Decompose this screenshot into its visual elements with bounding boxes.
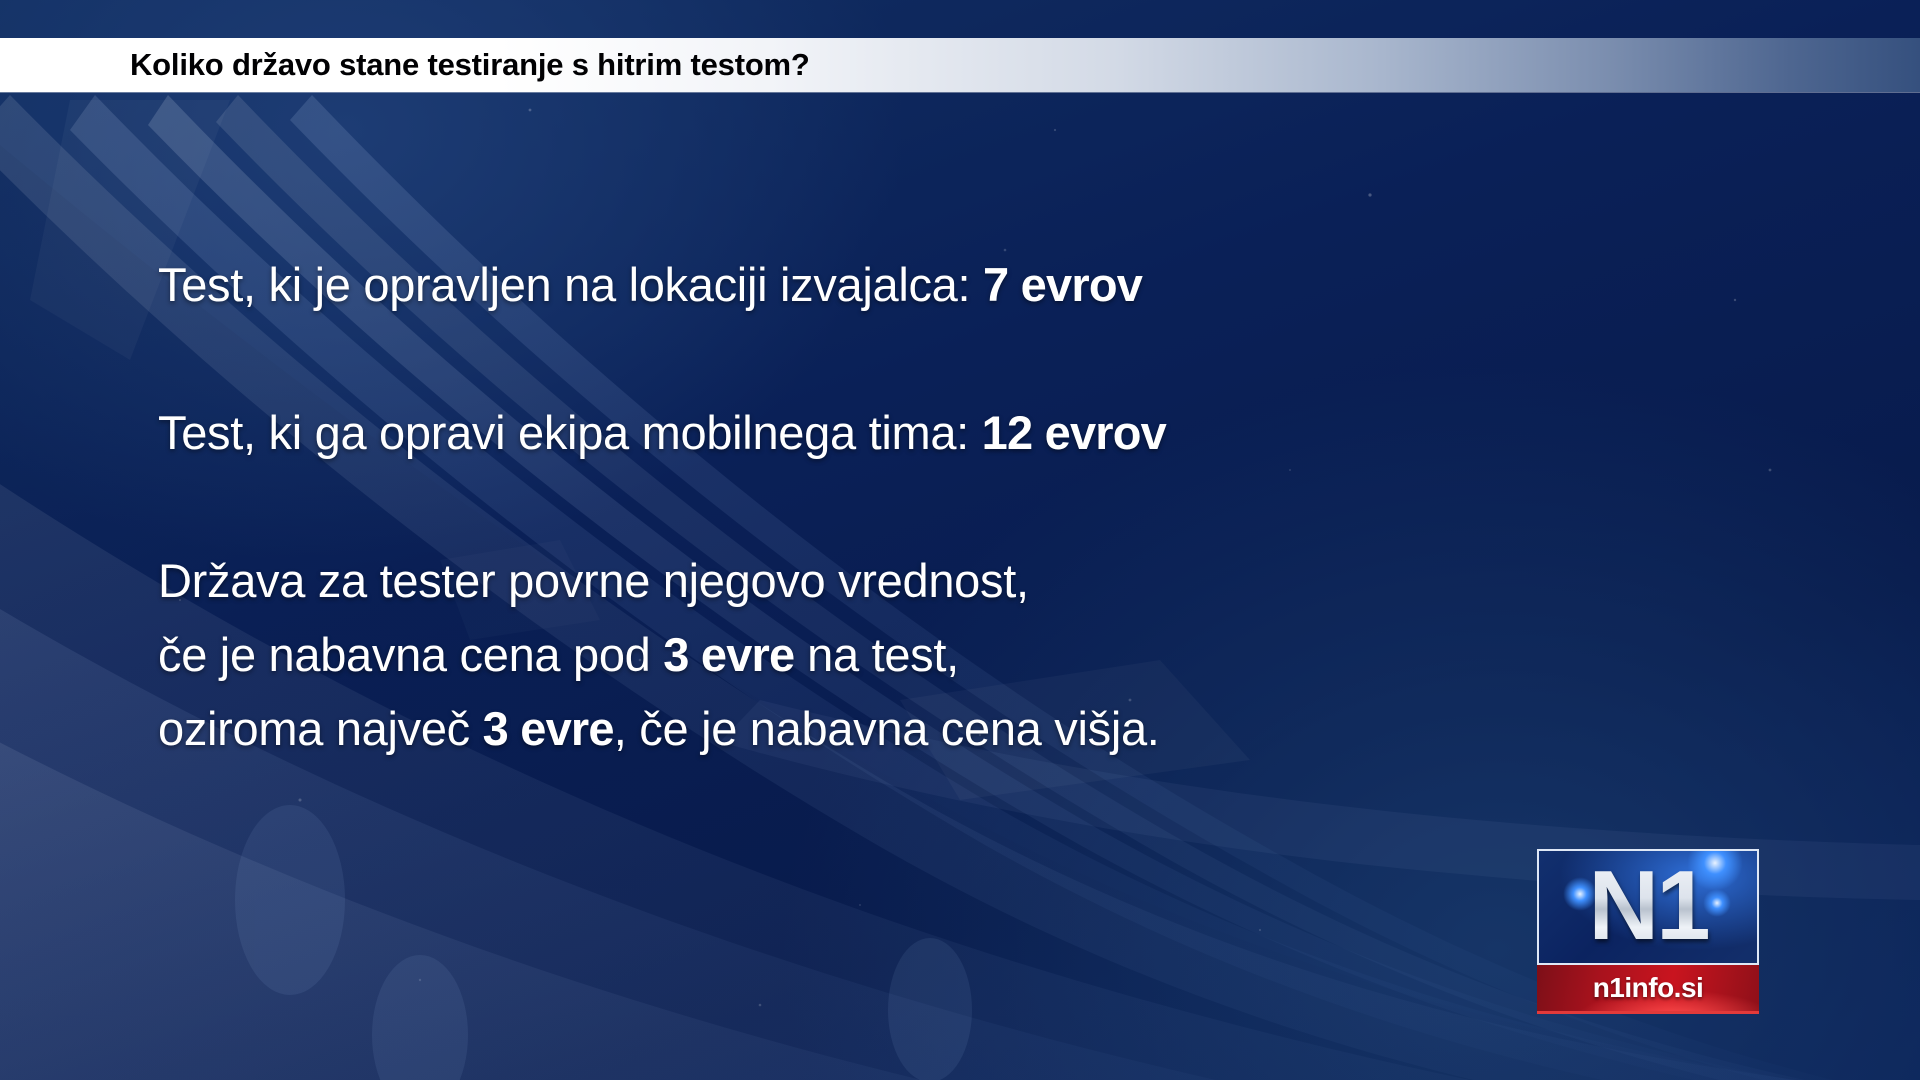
paragraph-spacer [158, 470, 1718, 544]
line-segment: če je nabavna cena pod [158, 628, 663, 681]
body-line: Test, ki ga opravi ekipa mobilnega tima:… [158, 396, 1718, 470]
paragraph-3: Država za tester povrne njegovo vrednost… [158, 544, 1718, 766]
line-segment-bold: 3 evre [483, 702, 614, 755]
body-line: če je nabavna cena pod 3 evre na test, [158, 618, 1718, 692]
line-segment: , če je nabavna cena višja. [614, 702, 1160, 755]
body-copy-block: Test, ki je opravljen na lokaciji izvaja… [158, 248, 1718, 766]
paragraph-1: Test, ki je opravljen na lokaciji izvaja… [158, 248, 1718, 322]
line-segment: oziroma največ [158, 702, 483, 755]
n1-logo-website-text: n1info.si [1593, 972, 1704, 1004]
body-line: Država za tester povrne njegovo vrednost… [158, 544, 1718, 618]
page-title: Koliko državo stane testiranje s hitrim … [130, 47, 810, 83]
line-segment-bold: 3 evre [663, 628, 794, 681]
line-segment: Država za tester povrne njegovo vrednost… [158, 554, 1029, 607]
paragraph-spacer [158, 322, 1718, 396]
line-segment: Test, ki je opravljen na lokaciji izvaja… [158, 258, 983, 311]
n1-logo-website-bar: n1info.si [1537, 965, 1759, 1014]
n1-logo-mark: N1 [1539, 851, 1757, 963]
line-segment: na test, [794, 628, 959, 681]
paragraph-2: Test, ki ga opravi ekipa mobilnega tima:… [158, 396, 1718, 470]
body-line: Test, ki je opravljen na lokaciji izvaja… [158, 248, 1718, 322]
headline-bar: Koliko državo stane testiranje s hitrim … [0, 38, 1920, 92]
body-line: oziroma največ 3 evre, če je nabavna cen… [158, 692, 1718, 766]
n1-logo: N1 n1info.si [1537, 849, 1759, 1011]
n1-logo-box: N1 [1537, 849, 1759, 965]
line-segment-bold: 12 evrov [982, 406, 1166, 459]
line-segment: Test, ki ga opravi ekipa mobilnega tima: [158, 406, 982, 459]
broadcast-graphic-screen: Koliko državo stane testiranje s hitrim … [0, 0, 1920, 1080]
line-segment-bold: 7 evrov [983, 258, 1142, 311]
